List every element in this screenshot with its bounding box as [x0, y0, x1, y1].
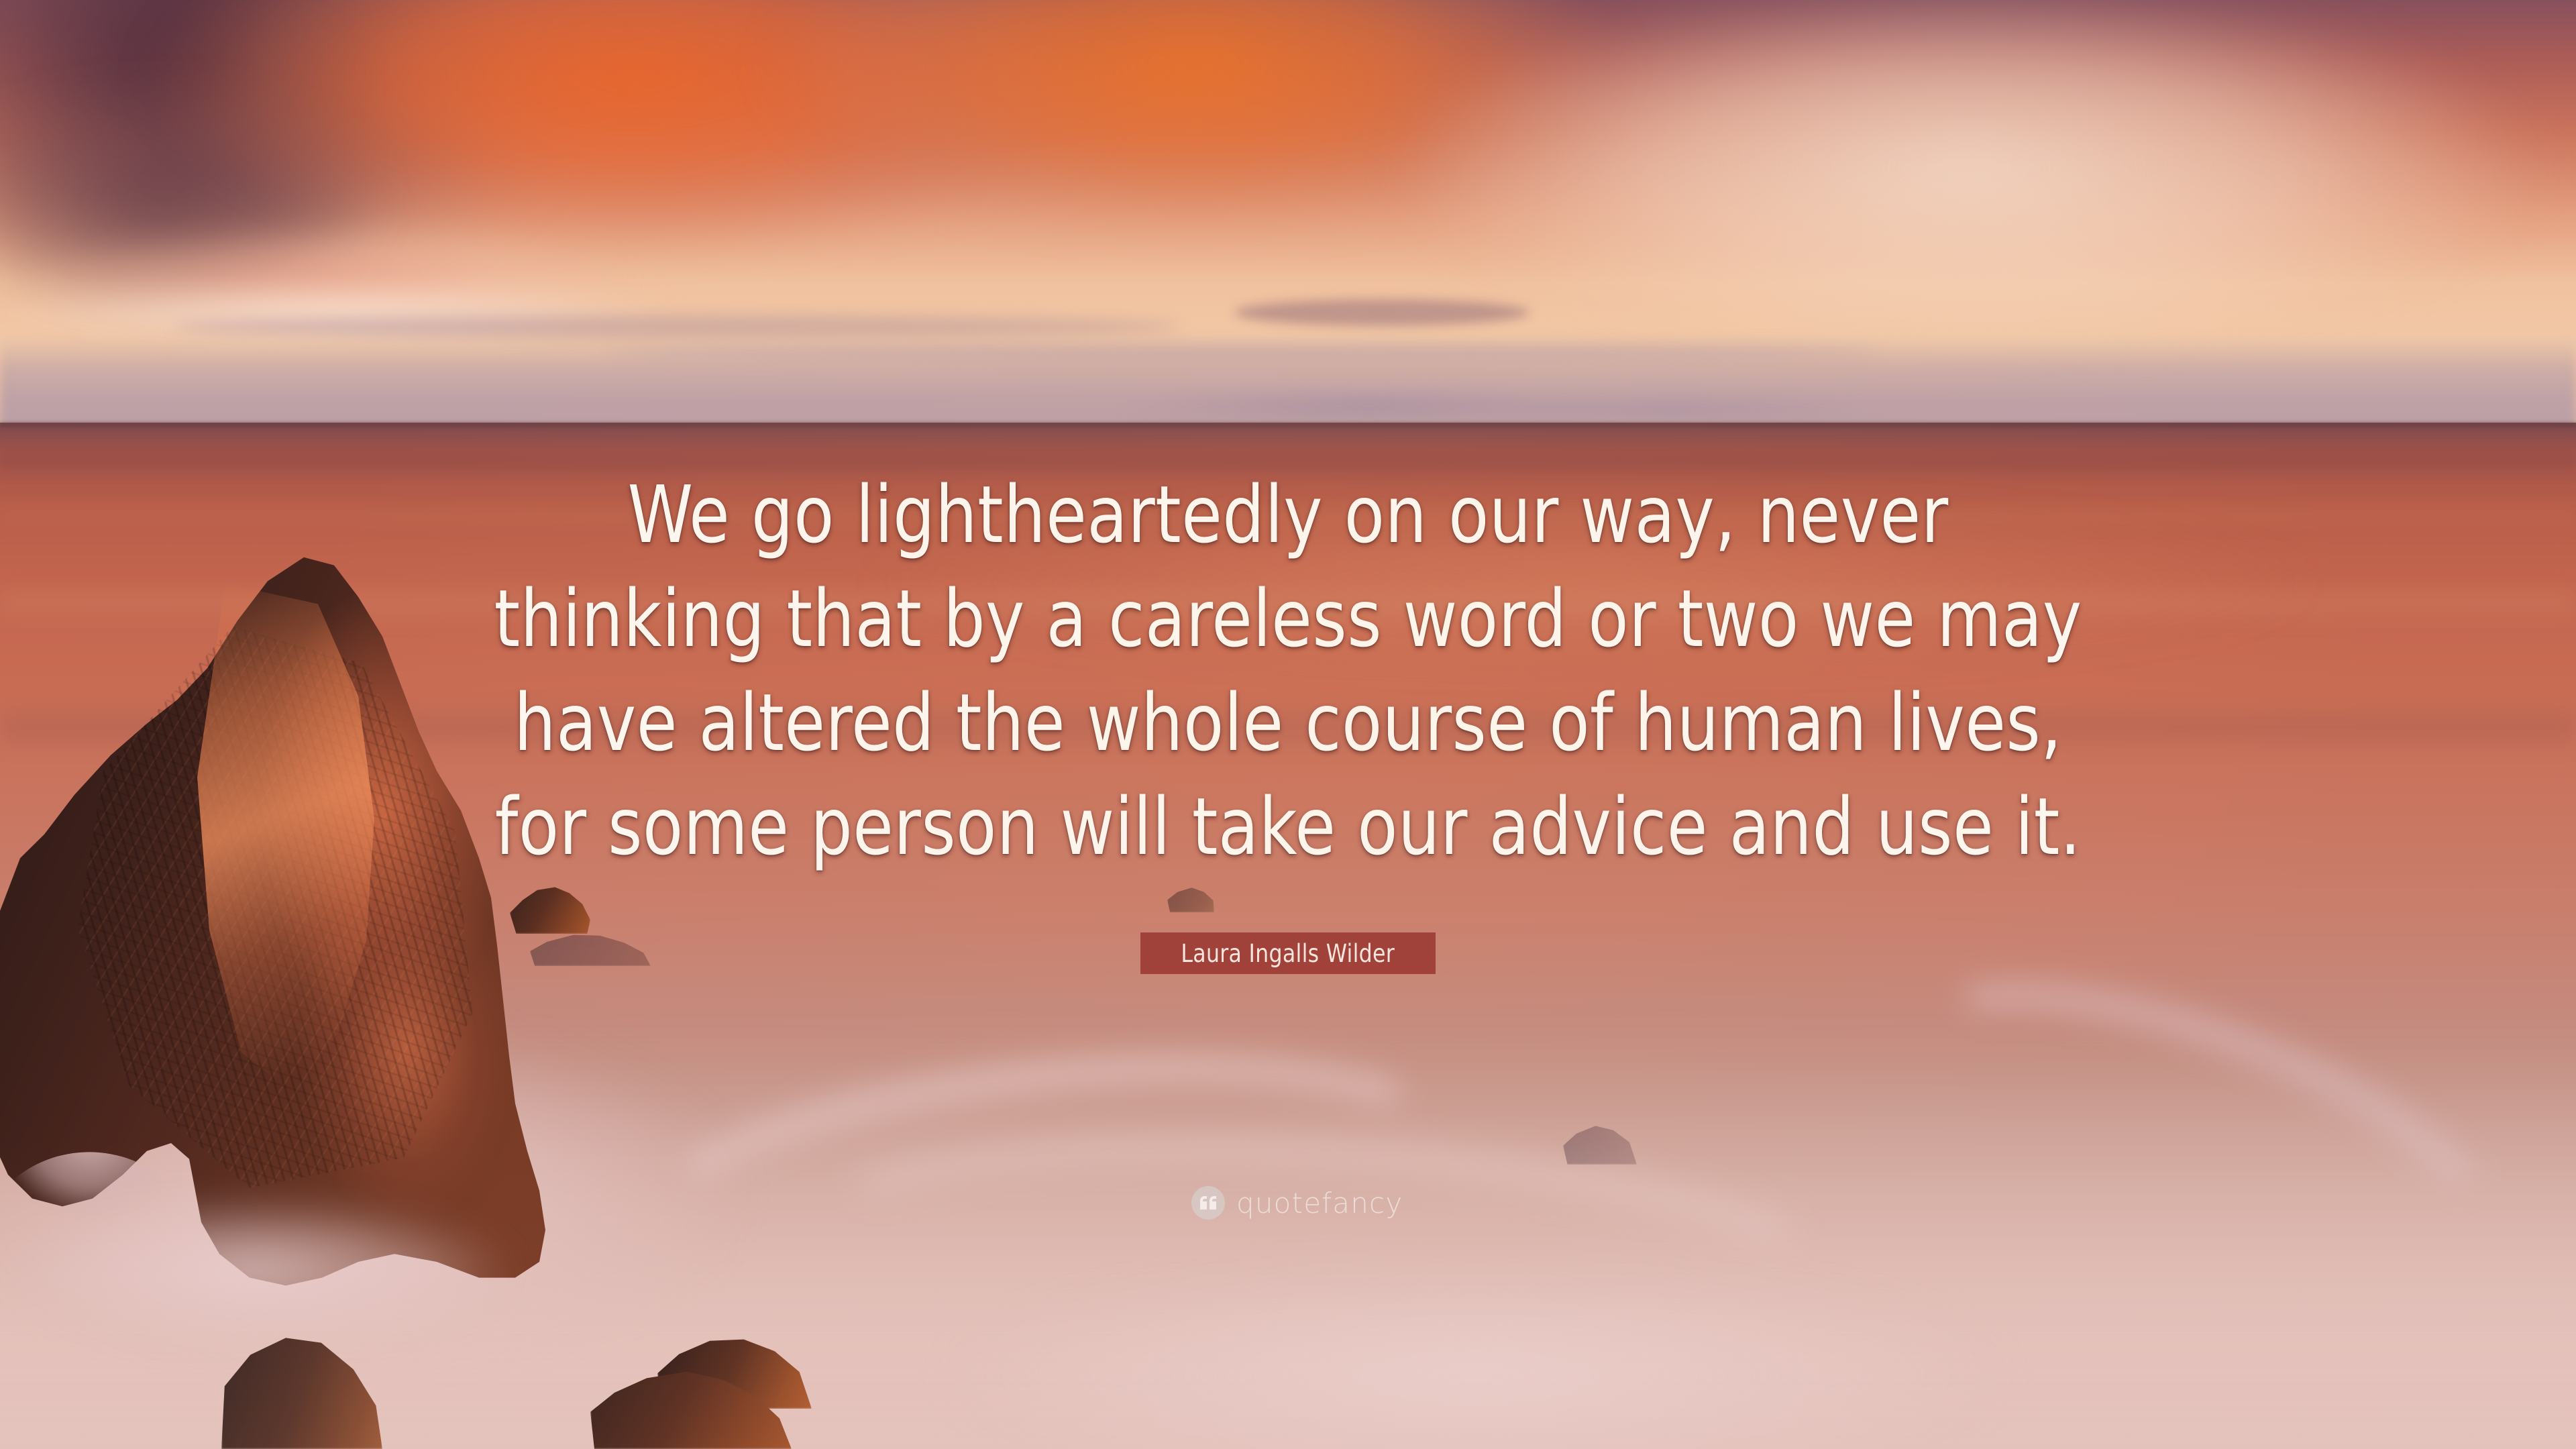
double-quote-icon	[1191, 1186, 1225, 1220]
sea-stack-rock	[0, 510, 563, 1301]
quote-wallpaper: We go lightheartedly on our way, never t…	[0, 0, 2576, 1449]
author-badge: Laura Ingalls Wilder	[1140, 932, 1436, 974]
quotefancy-watermark[interactable]: quotefancy	[1191, 1186, 1403, 1220]
horizon-haze-band	[0, 335, 2576, 429]
sea-band-1	[0, 451, 2576, 471]
horizon-line	[0, 423, 2576, 427]
quotefancy-brand-text: quotefancy	[1236, 1187, 1403, 1220]
surf-mist-center	[738, 1234, 2214, 1449]
lens-cloud	[1234, 299, 1529, 326]
sky-streak-upper	[174, 315, 1181, 338]
author-name: Laura Ingalls Wilder	[1181, 939, 1395, 968]
sea-sun-glow	[604, 470, 2576, 698]
